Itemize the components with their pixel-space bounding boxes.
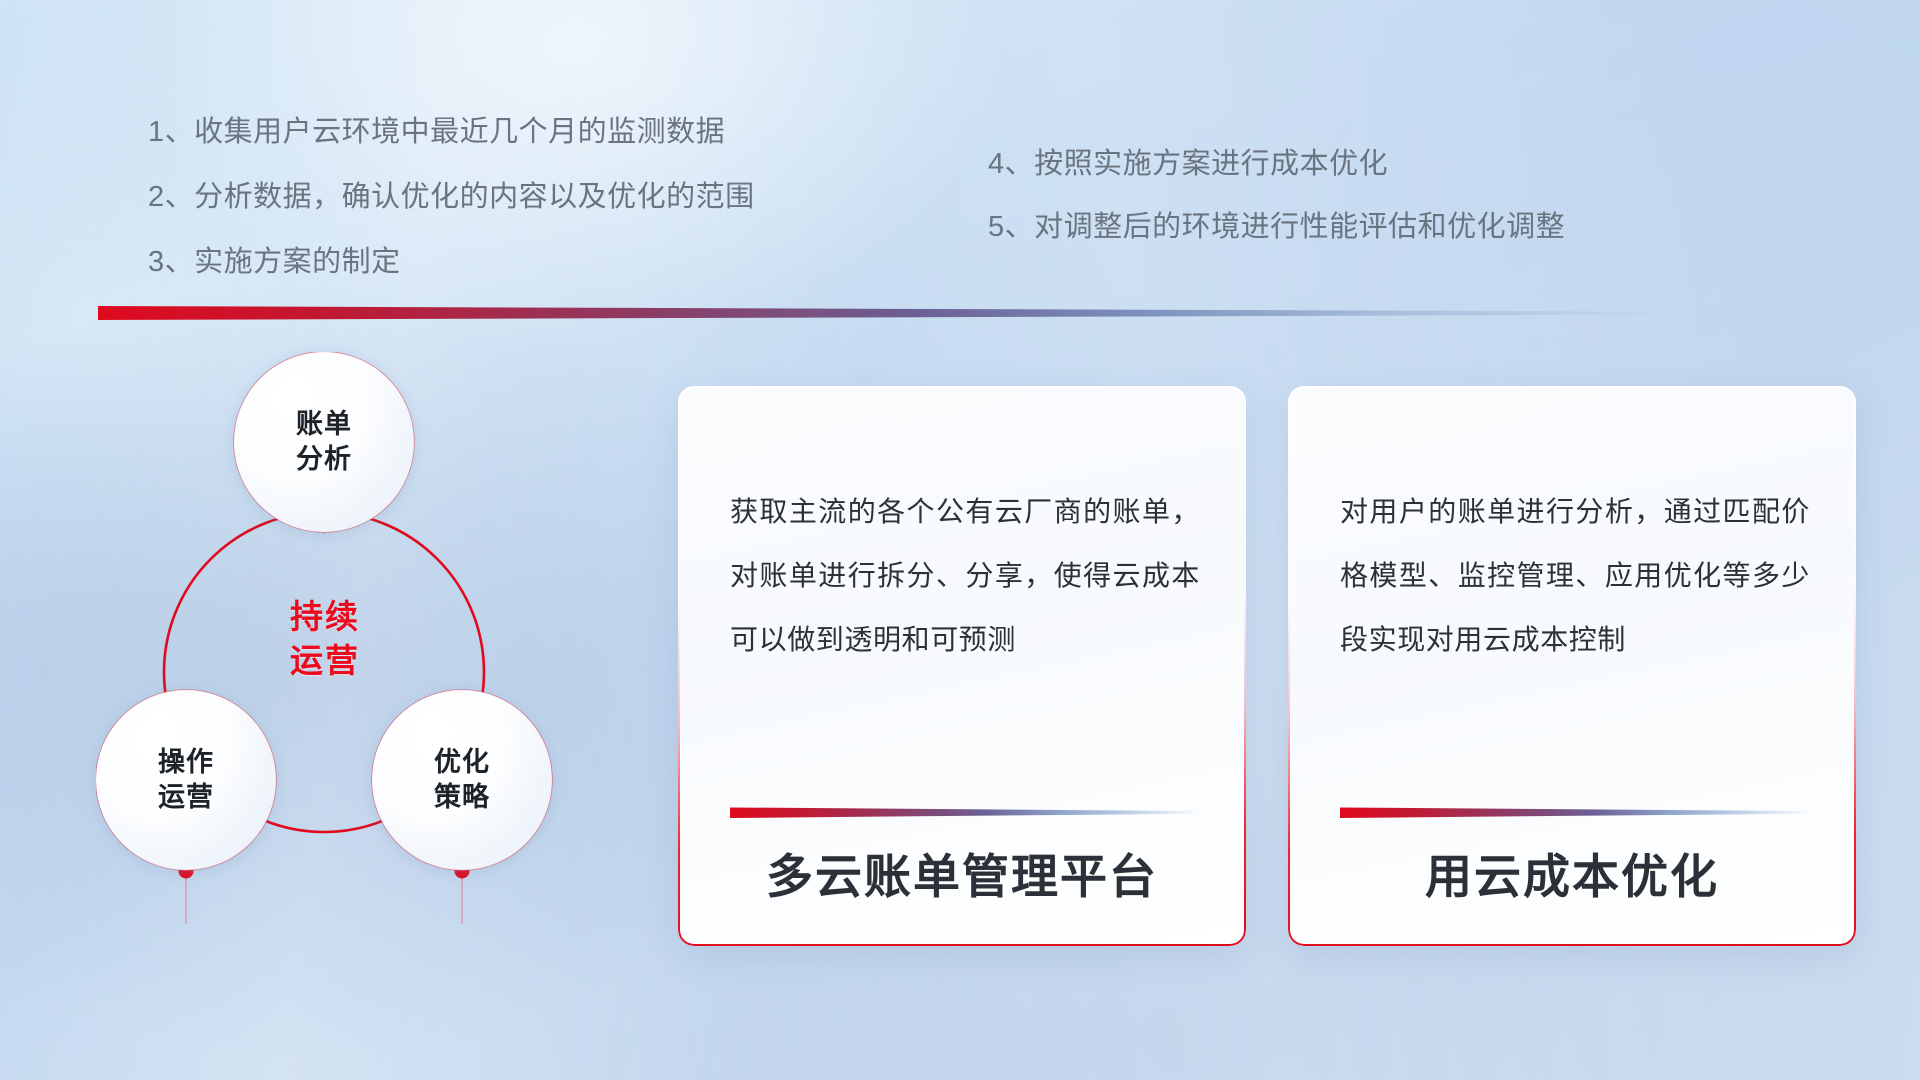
- card-divider: [1340, 806, 1810, 818]
- step-item: 3、实施方案的制定: [148, 248, 848, 277]
- venn-core-label: 持续 运营: [254, 580, 396, 698]
- venn-bubble-operations[interactable]: 操作运营: [96, 690, 276, 870]
- venn-bubble-optimization-strategy[interactable]: 优化策略: [372, 690, 552, 870]
- venn-core-line2: 运营: [290, 639, 360, 683]
- venn-core-line1: 持续: [290, 595, 360, 639]
- card-divider: [730, 806, 1200, 818]
- steps-list-left: 1、收集用户云环境中最近几个月的监测数据 2、分析数据，确认优化的内容以及优化的…: [148, 118, 848, 313]
- card-body-text: 获取主流的各个公有云厂商的账单，对账单进行拆分、分享，使得云成本可以做到透明和可…: [730, 480, 1200, 671]
- venn-diagram: 账单分析 操作运营 优化策略 持续 运营: [96, 352, 656, 962]
- feature-card-multicloud-billing[interactable]: 获取主流的各个公有云厂商的账单，对账单进行拆分、分享，使得云成本可以做到透明和可…: [678, 386, 1246, 946]
- step-item: 1、收集用户云环境中最近几个月的监测数据: [148, 118, 848, 147]
- feature-card-cloud-cost-optimization[interactable]: 对用户的账单进行分析，通过匹配价格模型、监控管理、应用优化等多少段实现对用云成本…: [1288, 386, 1856, 946]
- step-item: 2、分析数据，确认优化的内容以及优化的范围: [148, 183, 848, 212]
- venn-bubble-label: 账单分析: [296, 407, 352, 476]
- steps-list-right: 4、按照实施方案进行成本优化 5、对调整后的环境进行性能评估和优化调整: [988, 150, 1728, 276]
- venn-bubble-label: 优化策略: [434, 745, 490, 814]
- card-body-text: 对用户的账单进行分析，通过匹配价格模型、监控管理、应用优化等多少段实现对用云成本…: [1340, 480, 1810, 671]
- venn-bubble-bill-analysis[interactable]: 账单分析: [234, 352, 414, 532]
- card-title: 多云账单管理平台: [678, 838, 1246, 907]
- header-divider: [98, 306, 1668, 320]
- venn-bubble-label: 操作运营: [158, 745, 214, 814]
- step-item: 4、按照实施方案进行成本优化: [988, 150, 1728, 179]
- step-item: 5、对调整后的环境进行性能评估和优化调整: [988, 213, 1728, 242]
- card-title: 用云成本优化: [1288, 838, 1856, 907]
